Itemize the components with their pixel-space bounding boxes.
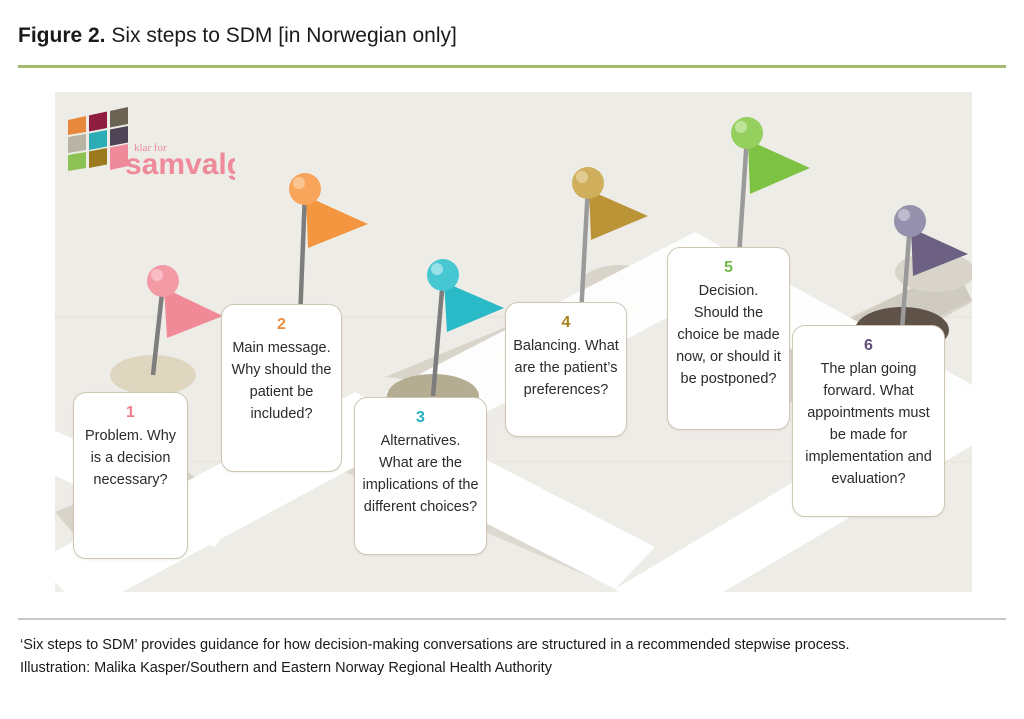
caption-line-2: Illustration: Malika Kasper/Southern and… xyxy=(20,657,1000,680)
step-number-4: 4 xyxy=(506,313,626,333)
step-card-4[interactable]: 4 Balancing. What are the patient’s pref… xyxy=(505,302,627,437)
step-text-3: Alternatives. What are the implications … xyxy=(355,430,486,518)
logo: klar for samvalg xyxy=(65,106,235,184)
logo-wordmark: samvalg xyxy=(125,148,235,181)
flag-knob-4 xyxy=(572,167,604,199)
step-number-1: 1 xyxy=(74,403,187,423)
step-number-3: 3 xyxy=(355,408,486,428)
step-card-5[interactable]: 5 Decision. Should the choice be made no… xyxy=(667,247,790,430)
flag-marker-3 xyxy=(373,256,523,416)
caption-divider xyxy=(18,618,1006,620)
flag-banner-2 xyxy=(306,196,368,248)
flag-marker-1 xyxy=(95,262,235,392)
page-title: Figure 2. Six steps to SDM [in Norwegian… xyxy=(18,22,457,50)
step-card-2[interactable]: 2 Main message. Why should the patient b… xyxy=(221,304,342,472)
step-number-2: 2 xyxy=(222,315,341,335)
step-text-5: Decision. Should the choice be made now,… xyxy=(668,280,789,390)
step-text-4: Balancing. What are the patient’s prefer… xyxy=(506,335,626,401)
flag-knob-3 xyxy=(427,259,459,291)
flag-knob-6 xyxy=(894,205,926,237)
flag-banner-1 xyxy=(164,288,223,338)
flag-banner-4 xyxy=(589,190,648,240)
flag-knob-2 xyxy=(289,173,321,205)
logo-tiles xyxy=(68,107,128,171)
illustration-panel: klar for samvalg xyxy=(55,92,972,592)
flag-banner-3 xyxy=(444,282,504,332)
step-card-1[interactable]: 1 Problem. Why is a decision necessary? xyxy=(73,392,188,559)
step-number-6: 6 xyxy=(793,336,944,356)
figure-title-text: Six steps to SDM [in Norwegian only] xyxy=(106,24,457,47)
figure-caption: ‘Six steps to SDM’ provides guidance for… xyxy=(20,634,1000,680)
caption-line-1: ‘Six steps to SDM’ provides guidance for… xyxy=(20,634,1000,657)
flag-knob-1 xyxy=(147,265,179,297)
step-card-3[interactable]: 3 Alternatives. What are the implication… xyxy=(354,397,487,555)
figure-label: Figure 2. xyxy=(18,24,106,47)
flag-banner-5 xyxy=(748,140,810,194)
title-divider xyxy=(18,65,1006,68)
flag-knob-5 xyxy=(731,117,763,149)
step-card-6[interactable]: 6 The plan going forward. What appointme… xyxy=(792,325,945,517)
step-text-6: The plan going forward. What appointment… xyxy=(793,358,944,490)
step-number-5: 5 xyxy=(668,258,789,278)
step-text-2: Main message. Why should the patient be … xyxy=(222,337,341,425)
flag-banner-6 xyxy=(911,228,968,276)
step-text-1: Problem. Why is a decision necessary? xyxy=(74,425,187,491)
